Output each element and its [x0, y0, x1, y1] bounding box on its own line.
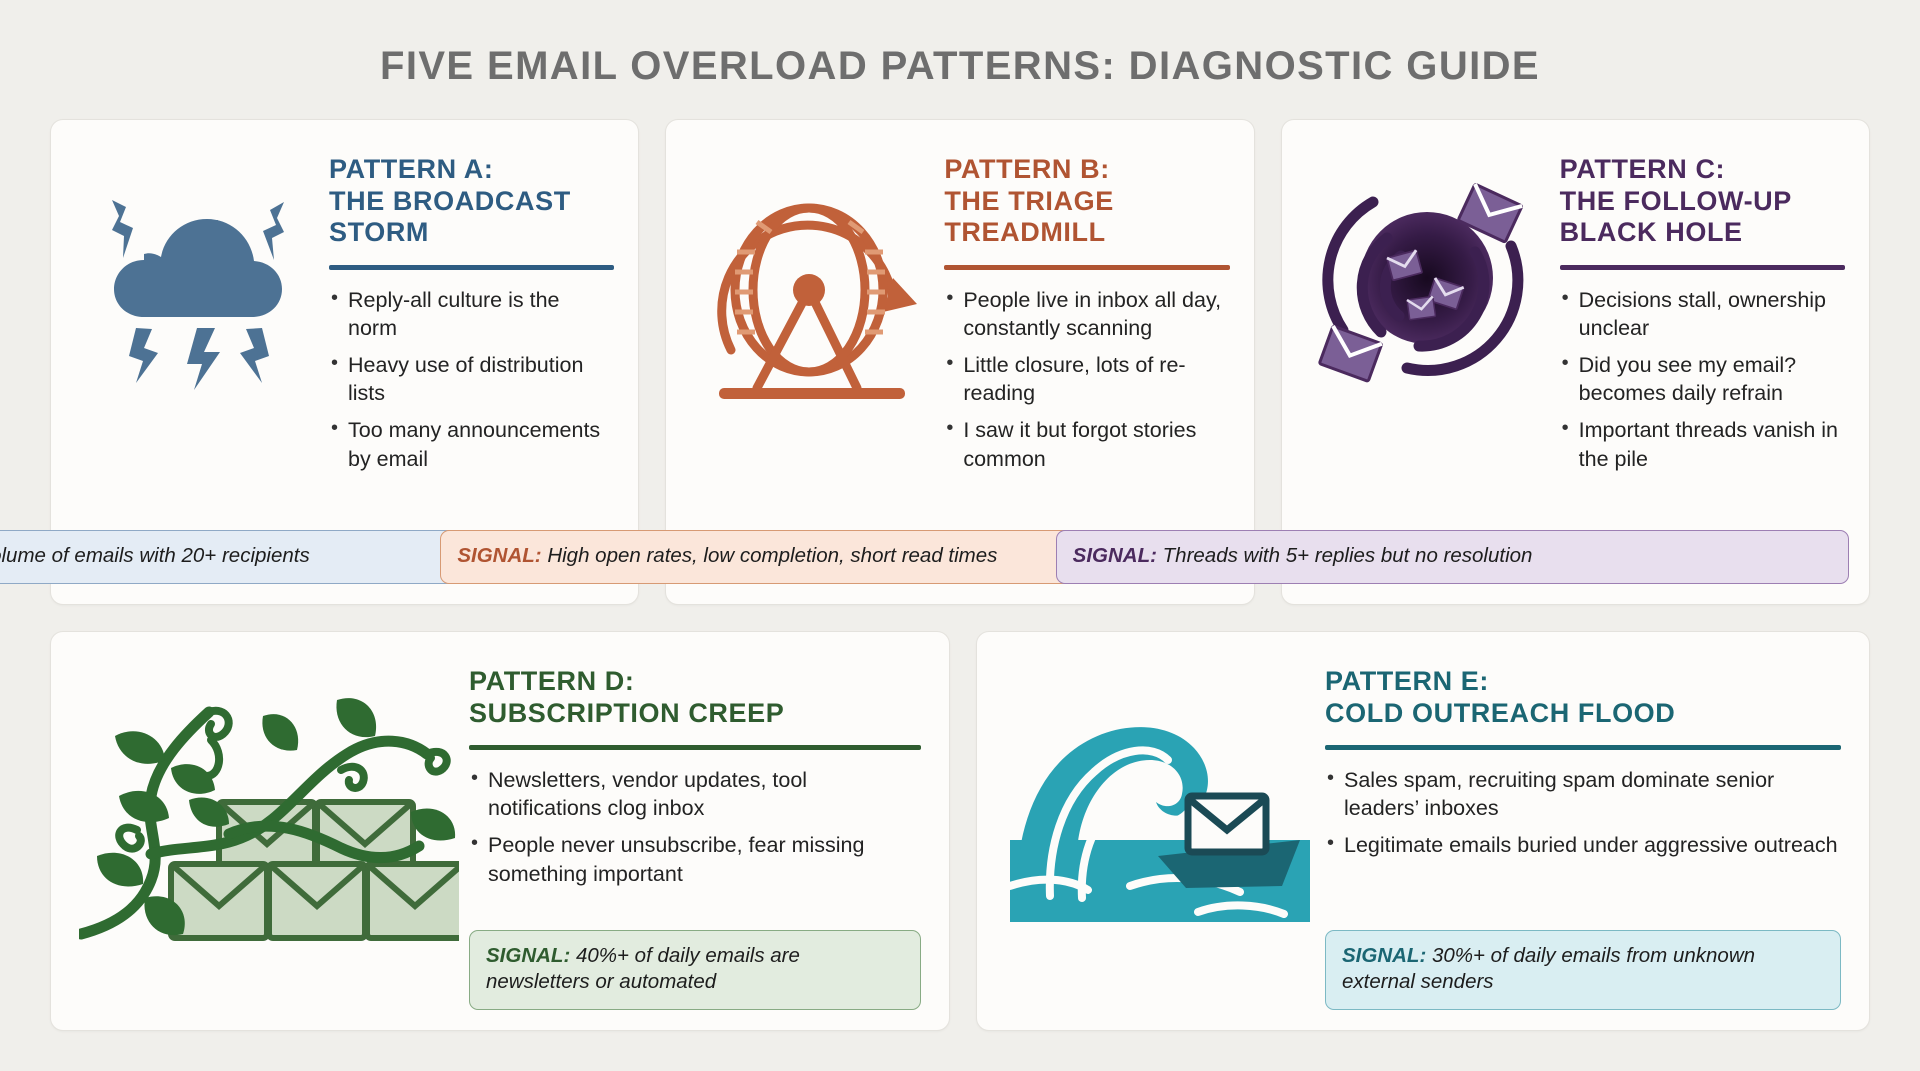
- list-item: Reply-all culture is the norm: [329, 286, 614, 342]
- signal-badge: SIGNAL: Threads with 5+ replies but no r…: [1056, 530, 1849, 584]
- list-item: Important threads vanish in the pile: [1560, 416, 1845, 472]
- list-item: I saw it but forgot stories common: [944, 416, 1229, 472]
- pattern-name: COLD OUTREACH FLOOD: [1325, 698, 1841, 730]
- signal-prefix: SIGNAL:: [1342, 944, 1426, 967]
- bullet-list: Newsletters, vendor updates, tool notifi…: [469, 766, 921, 897]
- black-hole-icon-svg: [1315, 160, 1545, 400]
- pattern-card-e[interactable]: PATTERN E: COLD OUTREACH FLOOD Sales spa…: [976, 631, 1870, 1031]
- signal-badge: SIGNAL: 40%+ of daily emails are newslet…: [469, 930, 921, 1010]
- list-item: Heavy use of distribution lists: [329, 351, 614, 407]
- accent-rule: [1560, 265, 1845, 270]
- wave-boat-icon-svg: [1010, 690, 1310, 930]
- signal-prefix: SIGNAL:: [1073, 544, 1157, 567]
- black-hole-icon: [1300, 142, 1560, 584]
- signal-text: High volume of emails with 20+ recipient…: [0, 544, 310, 567]
- pattern-name: THE TRIAGE TREADMILL: [944, 186, 1229, 249]
- signal-prefix: SIGNAL:: [457, 544, 541, 567]
- pattern-label: PATTERN A:: [329, 154, 614, 186]
- list-item: Decisions stall, ownership unclear: [1560, 286, 1845, 342]
- signal-prefix: SIGNAL:: [486, 944, 570, 967]
- cards-row-top: PATTERN A: THE BROADCAST STORM Reply-all…: [0, 119, 1920, 605]
- list-item: Sales spam, recruiting spam dominate sen…: [1325, 766, 1841, 822]
- list-item: Did you see my email? becomes daily refr…: [1560, 351, 1845, 407]
- bullet-list: People live in inbox all day, constantly…: [944, 286, 1229, 482]
- accent-rule: [1325, 745, 1841, 750]
- list-item: Newsletters, vendor updates, tool notifi…: [469, 766, 921, 822]
- pattern-card-d[interactable]: PATTERN D: SUBSCRIPTION CREEP Newsletter…: [50, 631, 950, 1031]
- pattern-label: PATTERN D:: [469, 666, 921, 698]
- accent-rule: [329, 265, 614, 270]
- signal-text: Threads with 5+ replies but no resolutio…: [1163, 544, 1533, 567]
- pattern-label: PATTERN B:: [944, 154, 1229, 186]
- list-item: Little closure, lots of re-reading: [944, 351, 1229, 407]
- page-title: FIVE EMAIL OVERLOAD PATTERNS: DIAGNOSTIC…: [0, 0, 1920, 89]
- signal-text: High open rates, low completion, short r…: [547, 544, 997, 567]
- list-item: People never unsubscribe, fear missing s…: [469, 831, 921, 887]
- storm-cloud-icon: [69, 142, 329, 584]
- accent-rule: [469, 745, 921, 750]
- vine-envelopes-icon: [69, 654, 469, 1010]
- pattern-card-c[interactable]: PATTERN C: THE FOLLOW-UP BLACK HOLE Deci…: [1281, 119, 1870, 605]
- pattern-name: THE FOLLOW-UP BLACK HOLE: [1560, 186, 1845, 249]
- list-item: Legitimate emails buried under aggressiv…: [1325, 831, 1841, 859]
- list-item: People live in inbox all day, constantly…: [944, 286, 1229, 342]
- bullet-list: Reply-all culture is the norm Heavy use …: [329, 286, 614, 482]
- pattern-name: SUBSCRIPTION CREEP: [469, 698, 921, 730]
- pattern-name: THE BROADCAST STORM: [329, 186, 614, 249]
- hamster-wheel-icon: [684, 142, 944, 584]
- pattern-label: PATTERN C:: [1560, 154, 1845, 186]
- signal-badge: SIGNAL: 30%+ of daily emails from unknow…: [1325, 930, 1841, 1010]
- infographic-page: FIVE EMAIL OVERLOAD PATTERNS: DIAGNOSTIC…: [0, 0, 1920, 1071]
- pattern-label: PATTERN E:: [1325, 666, 1841, 698]
- bullet-list: Decisions stall, ownership unclear Did y…: [1560, 286, 1845, 482]
- hamster-wheel-icon-svg: [697, 160, 932, 410]
- storm-cloud-icon-svg: [84, 160, 314, 410]
- wave-boat-icon: [995, 654, 1325, 1010]
- bullet-list: Sales spam, recruiting spam dominate sen…: [1325, 766, 1841, 868]
- accent-rule: [944, 265, 1229, 270]
- vine-envelopes-icon-svg: [79, 684, 459, 944]
- cards-row-bottom: PATTERN D: SUBSCRIPTION CREEP Newsletter…: [0, 631, 1920, 1031]
- list-item: Too many announcements by email: [329, 416, 614, 472]
